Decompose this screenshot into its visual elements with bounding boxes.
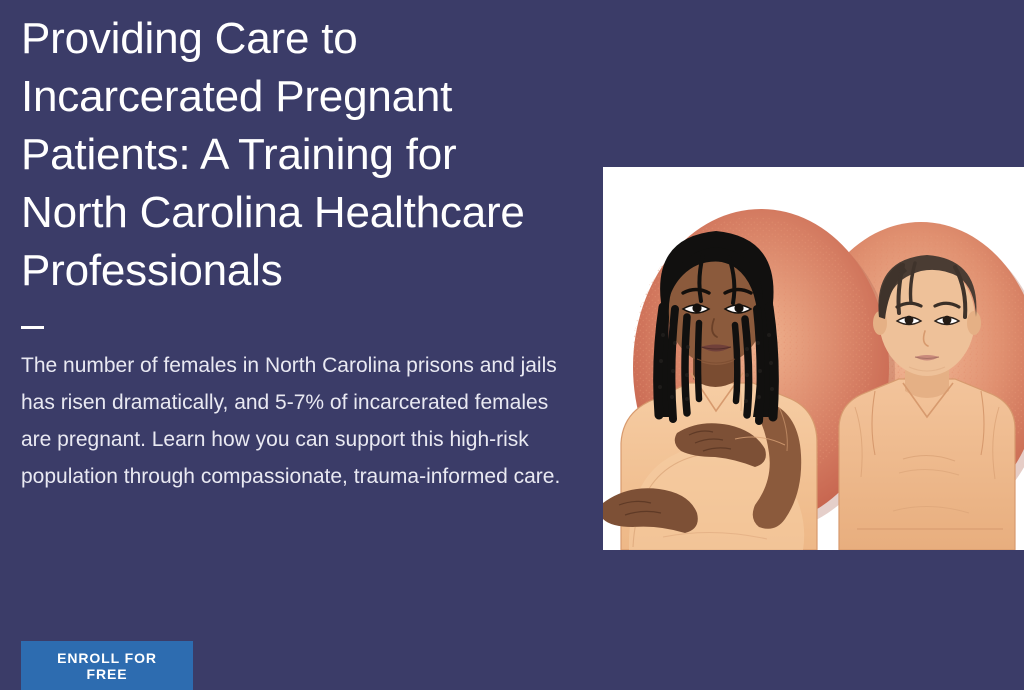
enroll-for-free-button[interactable]: ENROLL FOR FREE: [21, 641, 193, 690]
hero-text-column: Providing Care to Incarcerated Pregnant …: [21, 0, 581, 495]
page-title: Providing Care to Incarcerated Pregnant …: [21, 0, 541, 300]
illustration-svg: [603, 167, 1024, 550]
title-divider: [21, 326, 44, 329]
hero-section: Providing Care to Incarcerated Pregnant …: [0, 0, 1024, 690]
hero-description: The number of females in North Carolina …: [21, 347, 566, 495]
hero-illustration: [603, 167, 1024, 550]
